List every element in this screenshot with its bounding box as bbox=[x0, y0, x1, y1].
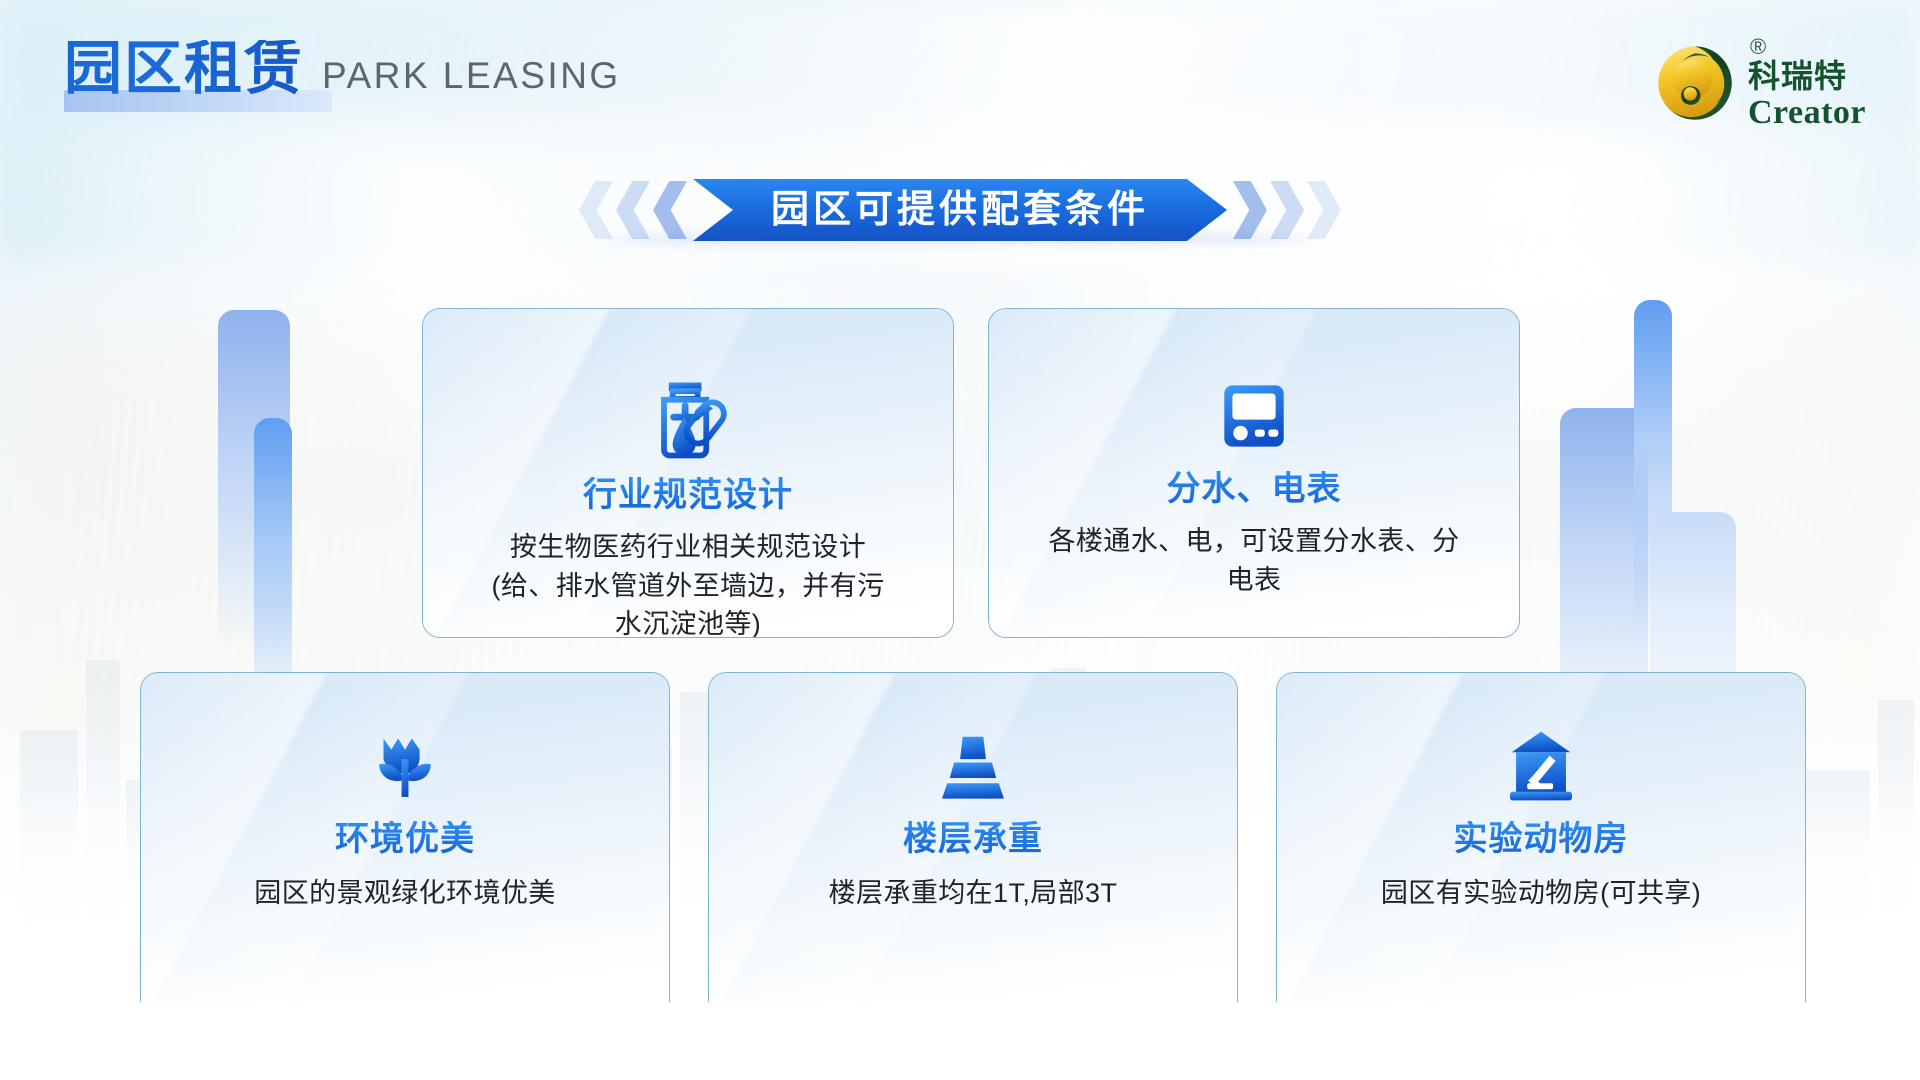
title-block: 园区租赁 bbox=[64, 40, 304, 98]
card-description: 楼层承重均在1T,局部3T bbox=[738, 874, 1208, 912]
feature-card-water-electric-meter[interactable]: 分水、电表 各楼通水、电，可设置分水表、分电表 bbox=[988, 308, 1520, 638]
double-chevron-left-icon bbox=[579, 181, 687, 239]
floor-load-weight-icon bbox=[930, 723, 1016, 809]
water-electric-meter-icon bbox=[1209, 371, 1299, 461]
card-description: 园区有实验动物房(可共享) bbox=[1306, 874, 1776, 912]
logo-name-cn: 科瑞特 bbox=[1748, 60, 1866, 92]
background-cloud-wash bbox=[0, 120, 1920, 440]
card-description: 各楼通水、电，可设置分水表、分电表 bbox=[1044, 522, 1464, 599]
registered-trademark-icon: ® bbox=[1750, 36, 1866, 58]
card-title: 行业规范设计 bbox=[583, 477, 793, 514]
creator-circle-logo-icon bbox=[1656, 44, 1734, 122]
logo-name-en: Creator bbox=[1748, 96, 1866, 130]
card-title: 楼层承重 bbox=[903, 821, 1043, 858]
section-banner-title: 园区可提供配套条件 bbox=[771, 191, 1149, 229]
tulip-flower-icon bbox=[362, 723, 448, 809]
feature-card-animal-lab[interactable]: 实验动物房 园区有实验动物房(可共享) bbox=[1276, 672, 1806, 1002]
feature-card-floor-load[interactable]: 楼层承重 楼层承重均在1T,局部3T bbox=[708, 672, 1238, 1002]
slide-root: 园区租赁 PARK LEASING bbox=[0, 0, 1920, 1080]
feature-card-beautiful-environment[interactable]: 环境优美 园区的景观绿化环境优美 bbox=[140, 672, 670, 1002]
double-chevron-right-icon bbox=[1233, 181, 1341, 239]
card-content: 实验动物房 园区有实验动物房(可共享) bbox=[1277, 673, 1805, 913]
card-title: 实验动物房 bbox=[1454, 821, 1629, 858]
card-content: 环境优美 园区的景观绿化环境优美 bbox=[141, 673, 669, 913]
card-title: 分水、电表 bbox=[1167, 471, 1342, 508]
card-content: 分水、电表 各楼通水、电，可设置分水表、分电表 bbox=[989, 309, 1519, 599]
brand-logo: ® 科瑞特 Creator bbox=[1656, 36, 1866, 130]
laboratory-microscope-building-icon bbox=[1498, 723, 1584, 809]
page-title: 园区租赁 bbox=[64, 40, 304, 98]
medicine-bottle-pill-icon bbox=[640, 371, 736, 467]
card-title: 环境优美 bbox=[335, 821, 475, 858]
logo-text-block: ® 科瑞特 Creator bbox=[1748, 36, 1866, 130]
card-description: 园区的景观绿化环境优美 bbox=[170, 874, 640, 912]
page-header: 园区租赁 PARK LEASING bbox=[64, 40, 621, 98]
page-subtitle-en: PARK LEASING bbox=[322, 57, 621, 98]
card-content: 行业规范设计 按生物医药行业相关规范设计(给、排水管道外至墙边，并有污水沉淀池等… bbox=[423, 309, 953, 638]
feature-card-industry-design[interactable]: 行业规范设计 按生物医药行业相关规范设计(给、排水管道外至墙边，并有污水沉淀池等… bbox=[422, 308, 954, 638]
section-banner-shadow bbox=[610, 232, 1310, 248]
card-description: 按生物医药行业相关规范设计(给、排水管道外至墙边，并有污水沉淀池等) bbox=[478, 528, 898, 638]
card-content: 楼层承重 楼层承重均在1T,局部3T bbox=[709, 673, 1237, 913]
